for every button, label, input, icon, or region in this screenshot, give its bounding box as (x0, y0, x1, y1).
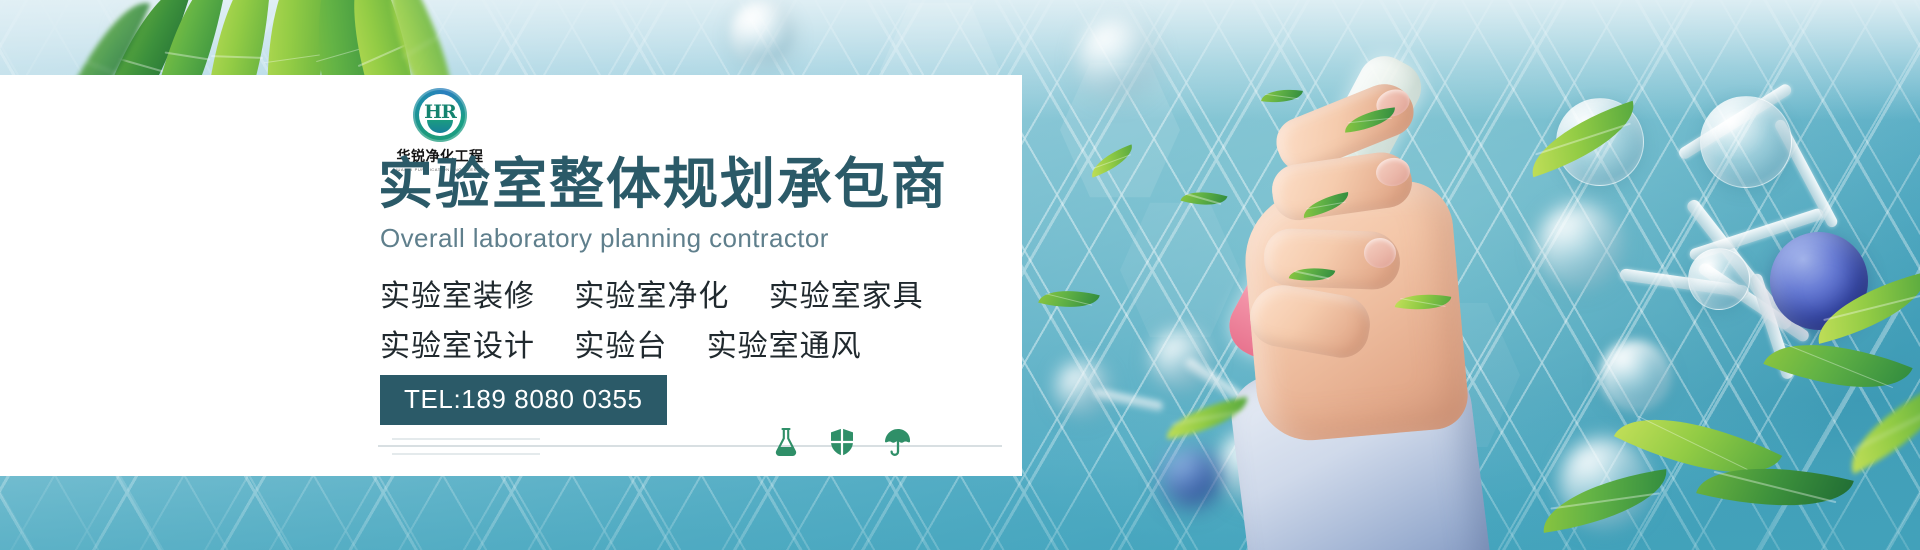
service-item: 实验台 (574, 330, 667, 363)
molecule-sphere-glass (730, 0, 796, 66)
hand-with-test-tube-illustration (1180, 66, 1600, 550)
molecule-sphere-glass (1056, 362, 1108, 414)
service-item: 实验室家具 (769, 280, 924, 313)
service-item: 实验室通风 (707, 330, 862, 363)
molecule-sphere-glass (1700, 96, 1792, 188)
content-panel: HR 华锐净化工程 HUARUI PURIFICATION ENGINEERIN… (0, 75, 1022, 476)
telephone-badge[interactable]: TEL:189 8080 0355 (380, 375, 667, 425)
service-item: 实验室净化 (574, 280, 729, 313)
molecule-sphere-glass (1600, 340, 1670, 410)
subheadline: Overall laboratory planning contractor (380, 223, 829, 254)
service-list-line-1: 实验室装修 实验室净化 实验室家具 (380, 271, 924, 315)
molecule-sphere-glass (1078, 18, 1156, 96)
feature-icon-row (772, 427, 912, 457)
logo-circle-icon: HR (413, 88, 467, 142)
divider-line-lower (392, 453, 540, 455)
umbrella-icon (884, 427, 912, 457)
laboratory-promo-banner: HR 华锐净化工程 HUARUI PURIFICATION ENGINEERIN… (0, 0, 1920, 550)
service-item: 实验室设计 (380, 330, 535, 363)
logo-monogram: HR (413, 101, 467, 123)
shield-icon (828, 427, 856, 457)
service-item: 实验室装修 (380, 280, 535, 313)
divider-line-upper (392, 438, 540, 440)
headline: 实验室整体规划承包商 (378, 157, 948, 212)
molecule-sphere-glass (1688, 248, 1750, 310)
service-list-line-2: 实验室设计 实验台 实验室通风 (380, 321, 862, 365)
flask-icon (772, 427, 800, 457)
